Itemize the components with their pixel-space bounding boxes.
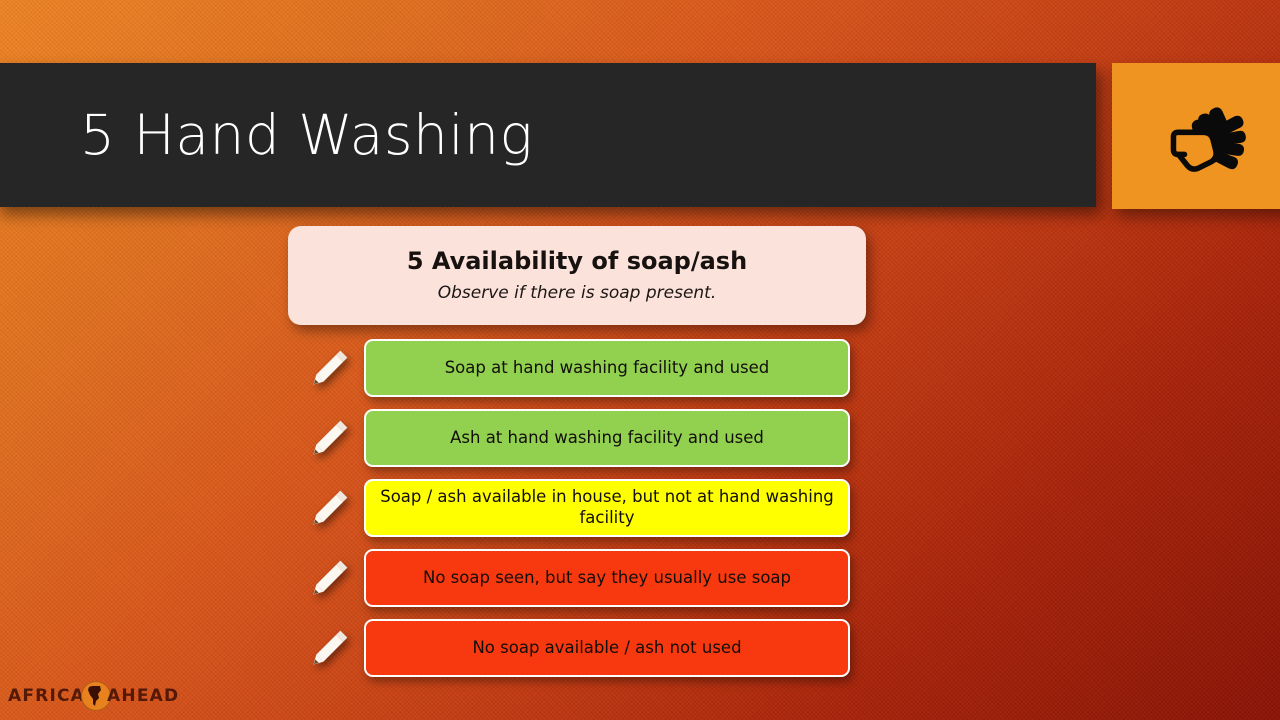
- pencil-icon: [300, 480, 358, 538]
- title-bar: 5 Hand Washing: [0, 63, 1096, 207]
- option-box[interactable]: Soap / ash available in house, but not a…: [364, 479, 850, 537]
- option-box[interactable]: Soap at hand washing facility and used: [364, 339, 850, 397]
- option-box[interactable]: Ash at hand washing facility and used: [364, 409, 850, 467]
- option-box[interactable]: No soap available / ash not used: [364, 619, 850, 677]
- pencil-icon: [300, 620, 358, 678]
- logo: AFRICA AHEAD: [8, 681, 179, 711]
- option-box[interactable]: No soap seen, but say they usually use s…: [364, 549, 850, 607]
- hand-washing-icon: [1156, 90, 1248, 182]
- topic-badge: [1112, 63, 1280, 209]
- question-card: 5 Availability of soap/ash Observe if th…: [288, 226, 866, 325]
- slide: 5 Hand Washing: [0, 0, 1280, 720]
- option-label: Soap at hand washing facility and used: [445, 358, 770, 379]
- logo-word-left: AFRICA: [8, 686, 85, 706]
- option-label: Soap / ash available in house, but not a…: [380, 487, 834, 528]
- logo-word-right: AHEAD: [107, 686, 179, 706]
- option-row[interactable]: Ash at hand washing facility and used: [300, 408, 860, 468]
- pencil-icon: [300, 410, 358, 468]
- option-row[interactable]: No soap available / ash not used: [300, 618, 860, 678]
- question-title: 5 Availability of soap/ash: [407, 248, 747, 274]
- option-label: No soap available / ash not used: [472, 638, 741, 659]
- option-row[interactable]: Soap / ash available in house, but not a…: [300, 478, 860, 538]
- option-row[interactable]: No soap seen, but say they usually use s…: [300, 548, 860, 608]
- pencil-icon: [300, 550, 358, 608]
- options-list: Soap at hand washing facility and usedAs…: [300, 338, 860, 688]
- page-title: 5 Hand Washing: [80, 103, 533, 167]
- option-label: No soap seen, but say they usually use s…: [423, 568, 791, 589]
- option-row[interactable]: Soap at hand washing facility and used: [300, 338, 860, 398]
- question-subtitle: Observe if there is soap present.: [438, 284, 717, 303]
- option-label: Ash at hand washing facility and used: [450, 428, 764, 449]
- pencil-icon: [300, 340, 358, 398]
